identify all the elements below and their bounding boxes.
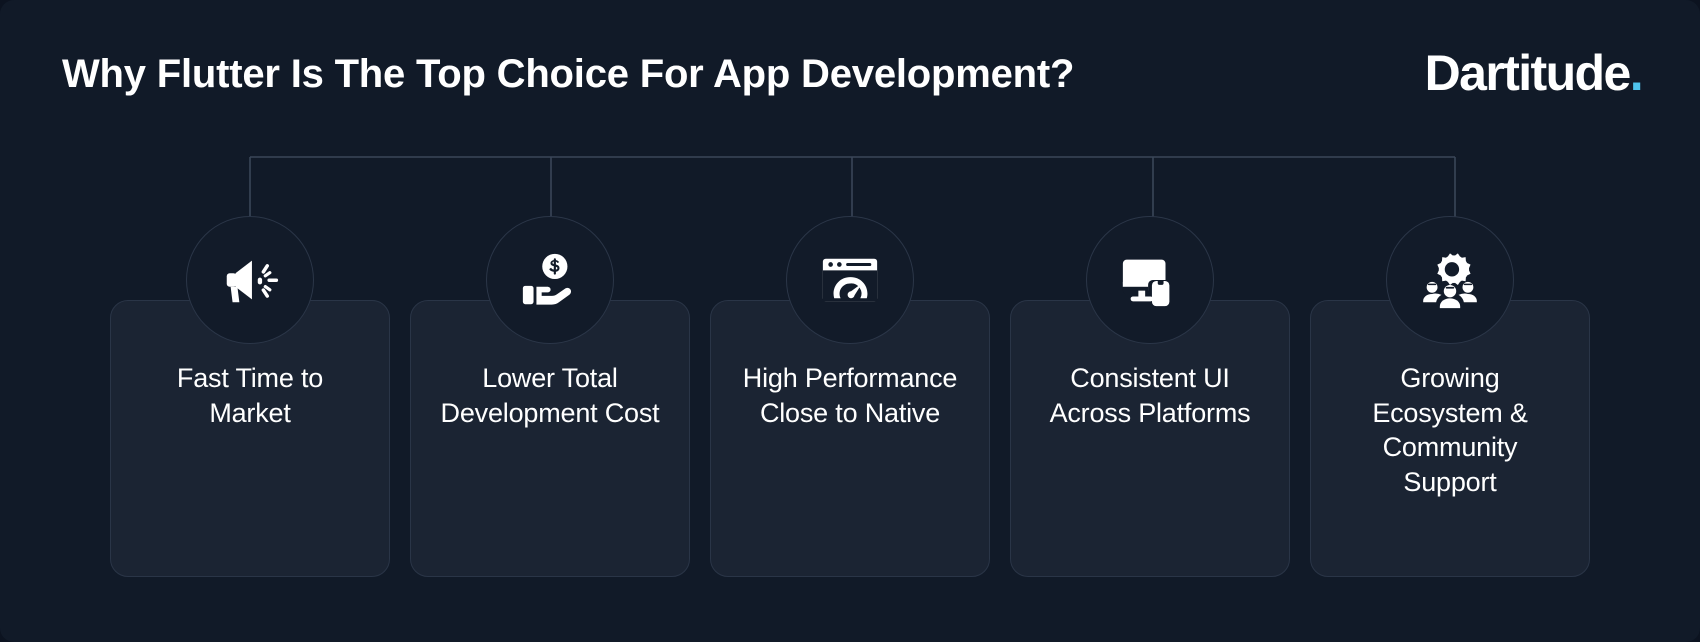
browser-speedometer-icon bbox=[819, 249, 881, 311]
icon-bubble bbox=[1086, 216, 1214, 344]
card-lower-total-development-cost[interactable]: Lower Total Development Cost bbox=[410, 300, 690, 577]
cards-row: Fast Time to Market Lower Tot bbox=[0, 300, 1700, 577]
page-title: Why Flutter Is The Top Choice For App De… bbox=[62, 52, 1074, 97]
card-label: Consistent UI Across Platforms bbox=[1036, 361, 1264, 430]
card-consistent-ui-across-platforms[interactable]: Consistent UI Across Platforms bbox=[1010, 300, 1290, 577]
hand-holding-dollar-icon bbox=[519, 249, 581, 311]
card-label: Lower Total Development Cost bbox=[436, 361, 664, 430]
monitor-mobile-icon bbox=[1119, 249, 1181, 311]
megaphone-icon bbox=[219, 249, 281, 311]
icon-bubble bbox=[1386, 216, 1514, 344]
brand-dot: . bbox=[1630, 45, 1642, 101]
header: Why Flutter Is The Top Choice For App De… bbox=[0, 0, 1700, 150]
card-high-performance-close-to-native[interactable]: High Performance Close to Native bbox=[710, 300, 990, 577]
card-label: Fast Time to Market bbox=[136, 361, 364, 430]
brand-name: Dartitude bbox=[1425, 45, 1630, 101]
card-fast-time-to-market[interactable]: Fast Time to Market bbox=[110, 300, 390, 577]
card-label: High Performance Close to Native bbox=[736, 361, 964, 430]
card-label: Growing Ecosystem & Community Support bbox=[1336, 361, 1564, 499]
brand-logo: Dartitude. bbox=[1425, 48, 1642, 98]
infographic-slide: Why Flutter Is The Top Choice For App De… bbox=[0, 0, 1700, 642]
icon-bubble bbox=[486, 216, 614, 344]
team-gear-icon bbox=[1419, 249, 1481, 311]
icon-bubble bbox=[786, 216, 914, 344]
card-growing-ecosystem-community-support[interactable]: Growing Ecosystem & Community Support bbox=[1310, 300, 1590, 577]
icon-bubble bbox=[186, 216, 314, 344]
